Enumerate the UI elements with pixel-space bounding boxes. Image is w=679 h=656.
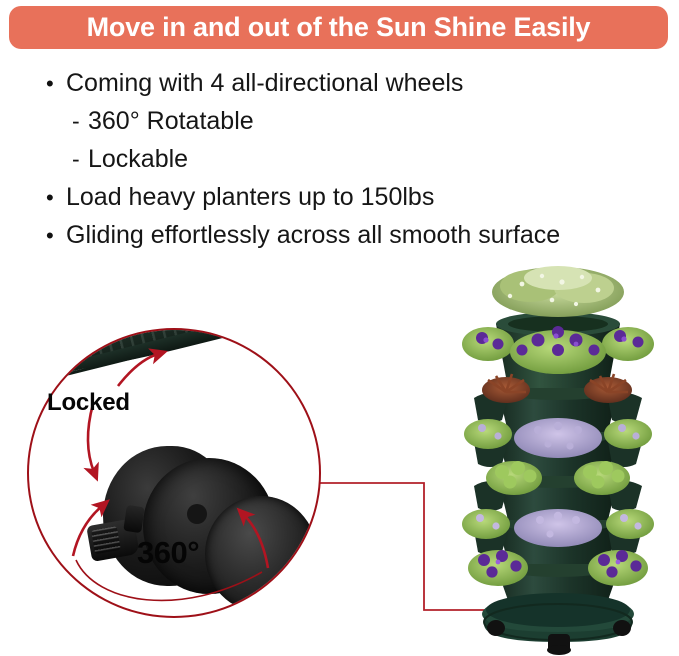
plant-purple-pansies	[462, 326, 654, 374]
bullet-icon: •	[46, 187, 66, 209]
dash-icon: -	[72, 108, 88, 135]
sub-feature-text: 360° Rotatable	[88, 108, 254, 135]
locked-label: Locked	[47, 389, 130, 417]
sub-list-item: - 360° Rotatable	[46, 108, 666, 146]
caster-wheel-front	[143, 458, 275, 594]
feature-list: • Coming with 4 all-directional wheels -…	[46, 70, 666, 260]
sub-feature-text: Lockable	[88, 146, 188, 173]
list-item: • Coming with 4 all-directional wheels	[46, 70, 666, 108]
caster-wheel-callout	[27, 328, 321, 618]
bullet-icon: •	[46, 225, 66, 247]
planter-base-underside	[39, 330, 319, 440]
callout-clip-region	[29, 330, 319, 616]
feature-text: Load heavy planters up to 150lbs	[66, 184, 434, 211]
list-item: • Load heavy planters up to 150lbs	[46, 184, 666, 222]
caster-wheel-hub	[187, 504, 207, 524]
feature-text: Gliding effortlessly across all smooth s…	[66, 222, 560, 249]
sub-list-item: - Lockable	[46, 146, 666, 184]
dash-icon: -	[72, 146, 88, 173]
header-banner: Move in and out of the Sun Shine Easily	[9, 6, 668, 49]
list-item: • Gliding effortlessly across all smooth…	[46, 222, 666, 260]
caster-lock-tab	[123, 505, 144, 533]
bullet-icon: •	[46, 73, 66, 95]
rotation-label: 360°	[137, 535, 199, 571]
caster-wheel-tread	[205, 496, 317, 612]
product-planter-tower	[452, 266, 664, 656]
promo-image-canvas: Move in and out of the Sun Shine Easily …	[0, 0, 679, 656]
caster-wheel	[91, 430, 291, 616]
plant-white-alyssum	[492, 266, 624, 317]
banner-title: Move in and out of the Sun Shine Easily	[87, 14, 591, 41]
feature-text: Coming with 4 all-directional wheels	[66, 70, 463, 97]
